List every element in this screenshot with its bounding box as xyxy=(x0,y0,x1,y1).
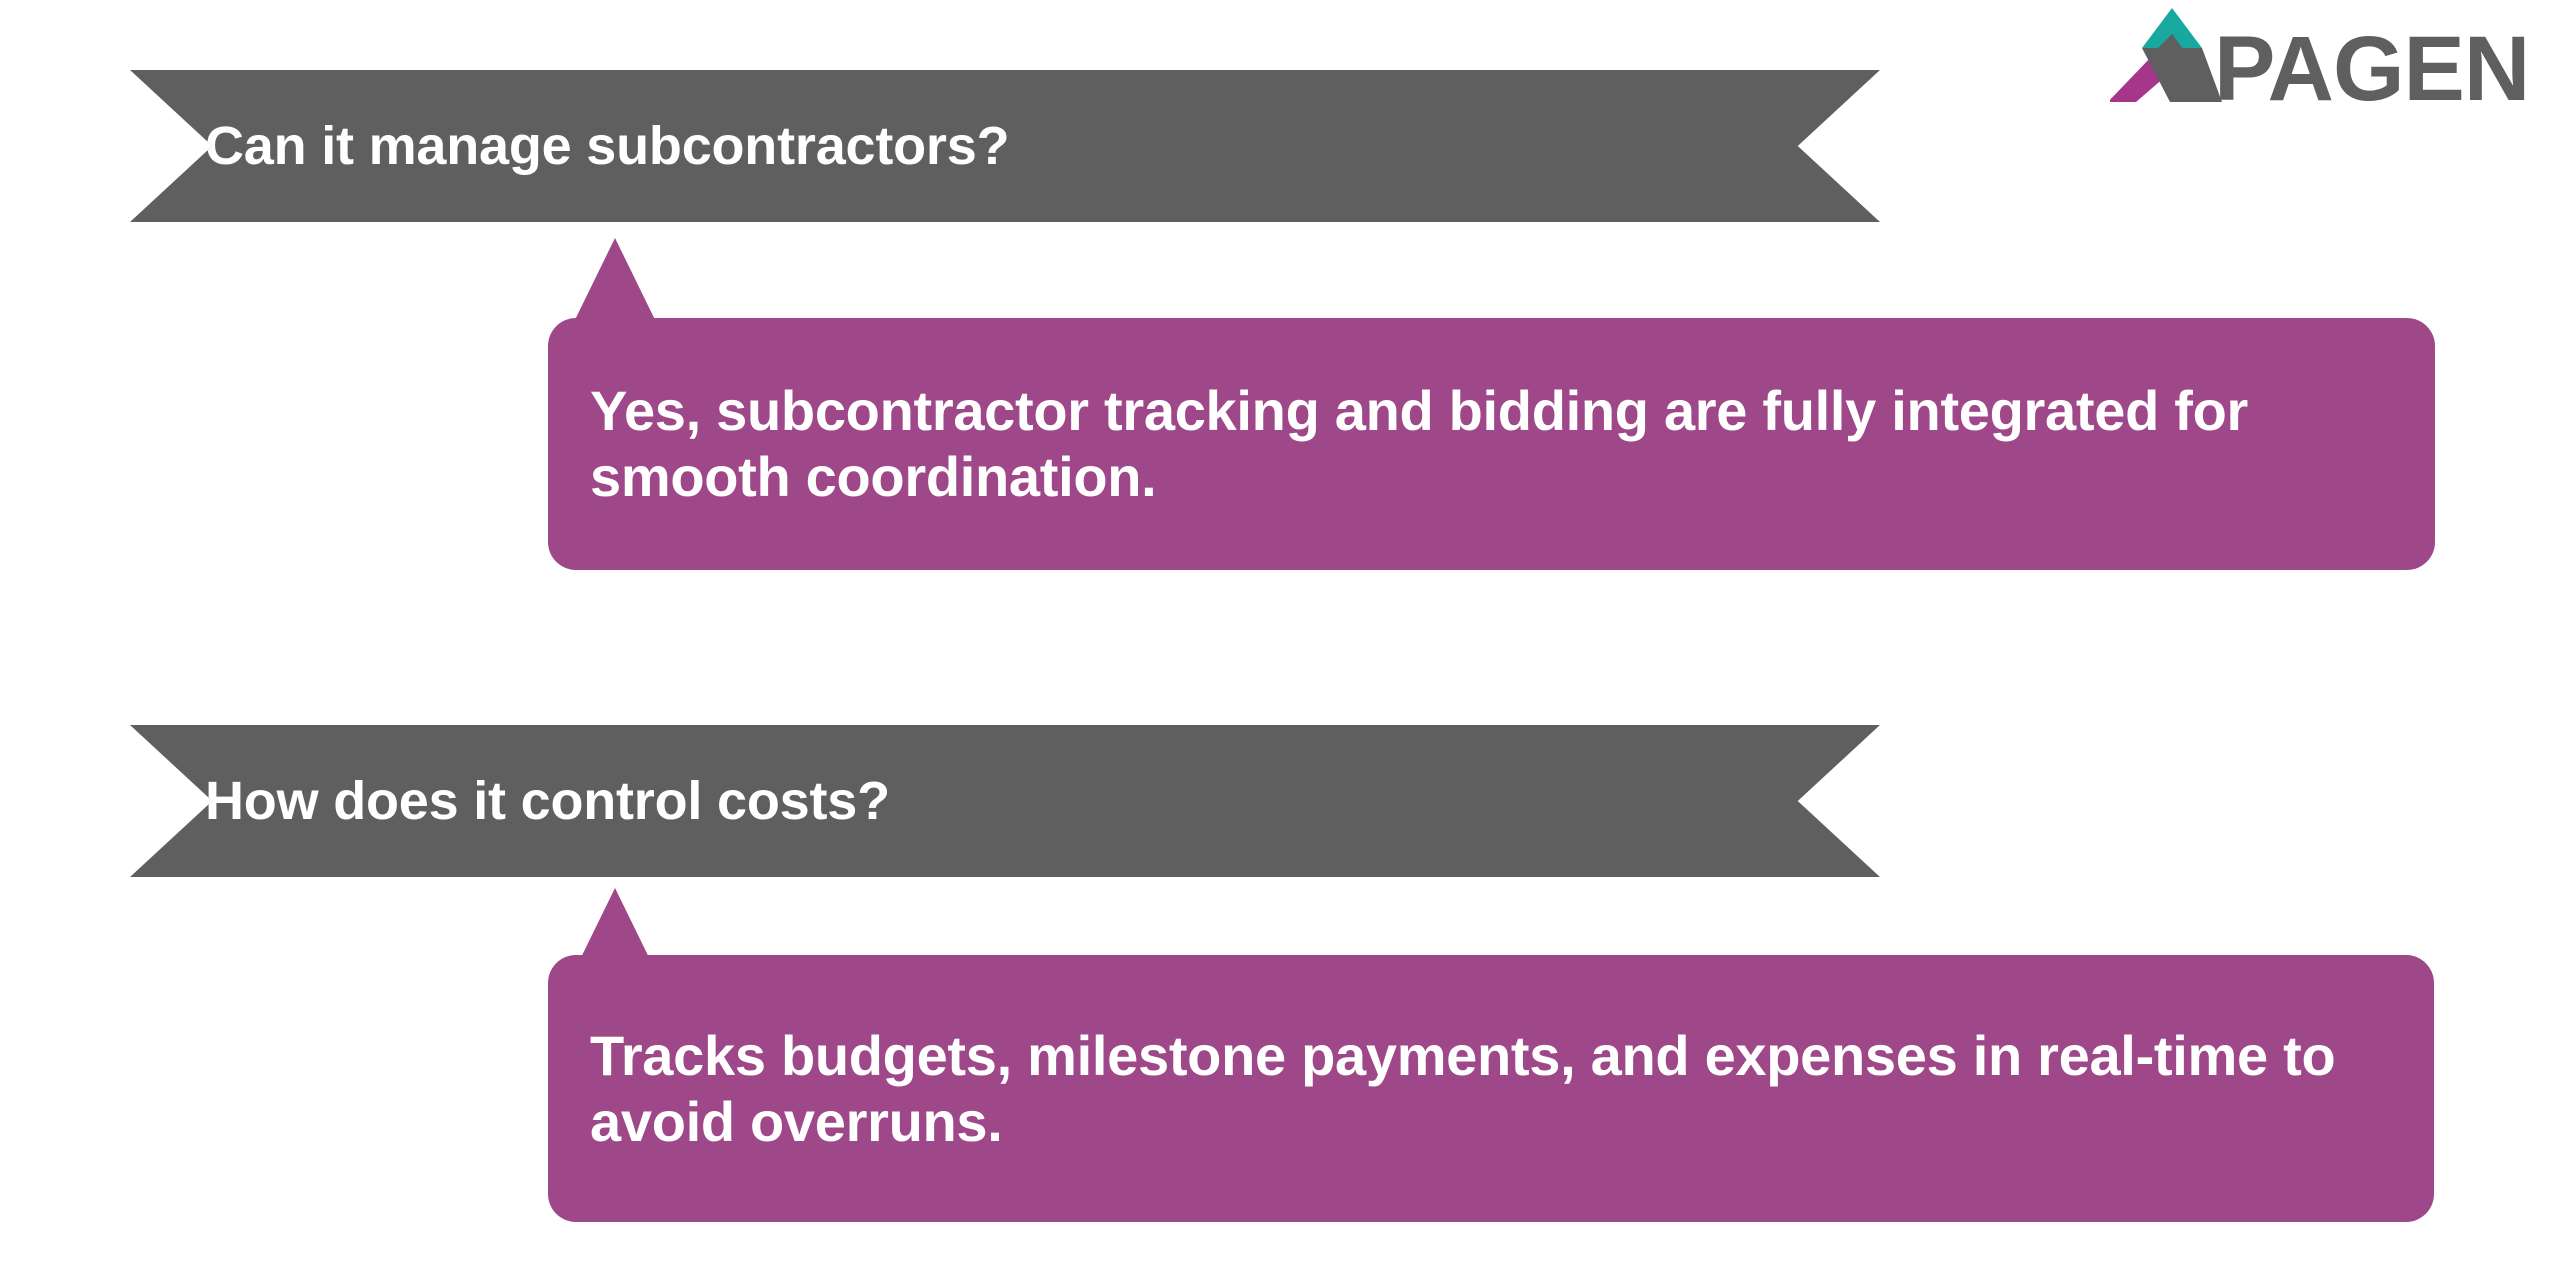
question-text-2: How does it control costs? xyxy=(205,770,890,832)
answer-text-1: Yes, subcontractor tracking and bidding … xyxy=(548,378,2435,509)
faq-graphic-canvas: PAGEN Can it manage subcontractors? Yes,… xyxy=(0,0,2560,1280)
question-text-1: Can it manage subcontractors? xyxy=(205,115,1009,177)
answer-tail-1 xyxy=(570,238,660,330)
apagen-logo: PAGEN xyxy=(2110,4,2530,108)
answer-bubble-2[interactable]: Tracks budgets, milestone payments, and … xyxy=(548,955,2434,1222)
logo-wordmark: PAGEN xyxy=(2214,18,2529,108)
answer-bubble-1[interactable]: Yes, subcontractor tracking and bidding … xyxy=(548,318,2435,570)
answer-text-2: Tracks budgets, milestone payments, and … xyxy=(548,1023,2434,1154)
question-ribbon-1[interactable]: Can it manage subcontractors? xyxy=(130,70,1880,222)
question-ribbon-2[interactable]: How does it control costs? xyxy=(130,725,1880,877)
